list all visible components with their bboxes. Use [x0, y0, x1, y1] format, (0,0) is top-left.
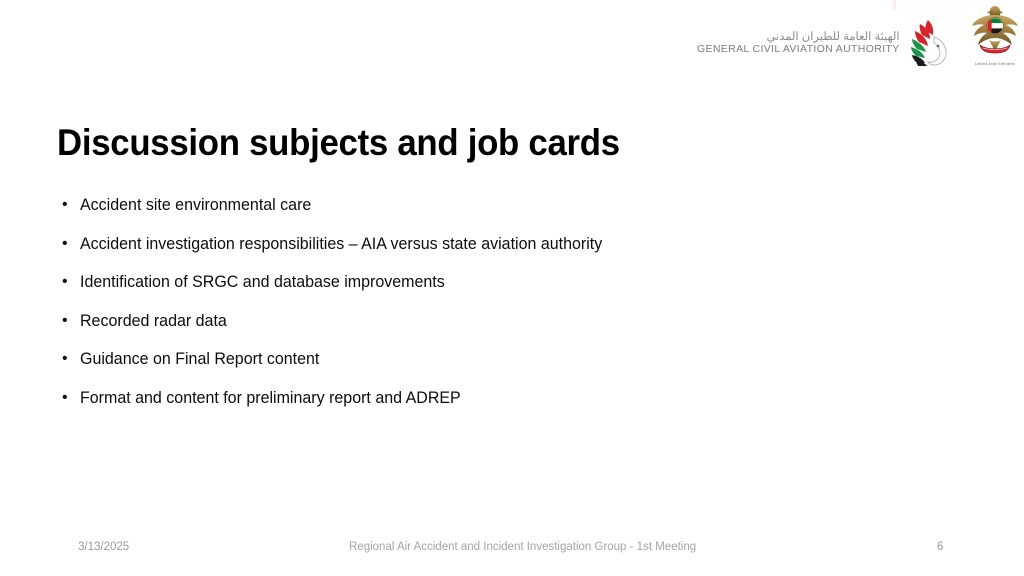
- bullet-marker-icon: •: [57, 347, 80, 371]
- presentation-slide: الهيئة العامة للطيران المدني GENERAL CIV…: [0, 0, 1024, 576]
- slide-bullet-list: • Accident site environmental care • Acc…: [57, 193, 957, 424]
- slide-footer: 3/13/2025 Regional Air Accident and Inci…: [0, 538, 1024, 562]
- gcaa-falcon-wing-icon: [906, 18, 952, 68]
- gcaa-logo: الهيئة العامة للطيران المدني GENERAL CIV…: [697, 18, 952, 68]
- slide-header-logos: الهيئة العامة للطيران المدني GENERAL CIV…: [0, 0, 1024, 78]
- footer-page-number: 6: [937, 541, 943, 553]
- header-artifact: [893, 0, 971, 10]
- bullet-item: • Guidance on Final Report content: [57, 347, 957, 386]
- bullet-text: Guidance on Final Report content: [80, 347, 319, 371]
- bullet-item: • Accident investigation responsibilitie…: [57, 232, 957, 271]
- bullet-marker-icon: •: [57, 193, 80, 217]
- bullet-item: • Accident site environmental care: [57, 193, 957, 232]
- footer-date: 3/13/2025: [78, 541, 129, 553]
- uae-federal-emblem-icon: [969, 4, 1021, 61]
- gcaa-arabic-name: الهيئة العامة للطيران المدني: [766, 31, 899, 43]
- uae-emblem-caption: United Arab Emirates: [975, 62, 1015, 66]
- bullet-item: • Format and content for preliminary rep…: [57, 386, 957, 425]
- bullet-text: Format and content for preliminary repor…: [80, 386, 461, 410]
- bullet-text: Accident site environmental care: [80, 193, 311, 217]
- bullet-marker-icon: •: [57, 270, 80, 294]
- slide-title: Discussion subjects and job cards: [57, 122, 884, 163]
- gcaa-english-name: GENERAL CIVIL AVIATION AUTHORITY: [697, 44, 900, 55]
- bullet-marker-icon: •: [57, 232, 80, 256]
- gcaa-wordmark: الهيئة العامة للطيران المدني GENERAL CIV…: [697, 31, 900, 54]
- bullet-marker-icon: •: [57, 309, 80, 333]
- bullet-text: Accident investigation responsibilities …: [80, 232, 602, 256]
- bullet-item: • Recorded radar data: [57, 309, 957, 348]
- footer-meeting-title: Regional Air Accident and Incident Inves…: [349, 541, 696, 553]
- bullet-text: Identification of SRGC and database impr…: [80, 270, 445, 294]
- bullet-item: • Identification of SRGC and database im…: [57, 270, 957, 309]
- bullet-marker-icon: •: [57, 386, 80, 410]
- bullet-text: Recorded radar data: [80, 309, 227, 333]
- uae-emblem: United Arab Emirates: [967, 4, 1023, 68]
